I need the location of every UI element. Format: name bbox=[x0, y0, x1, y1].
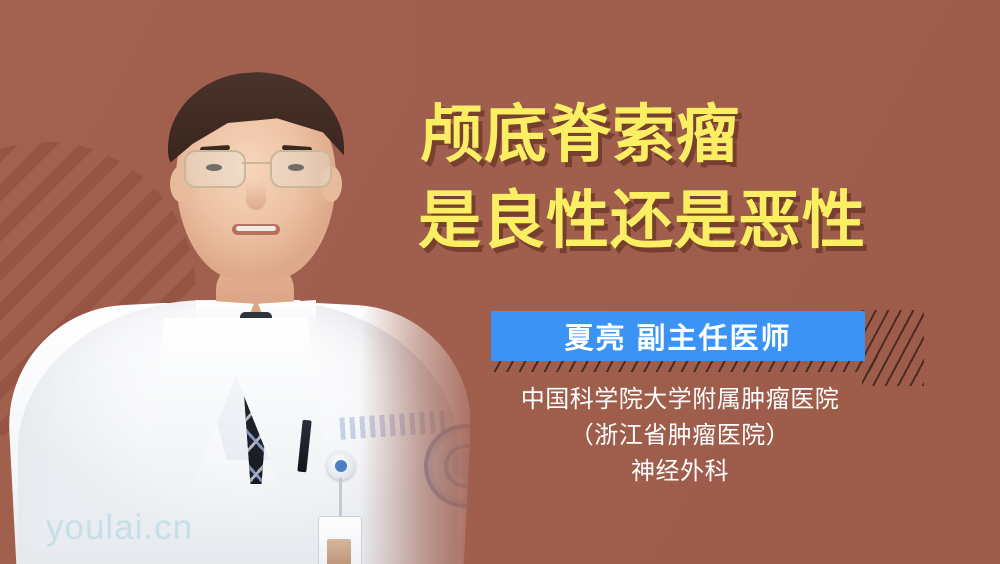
title-line-2: 是良性还是恶性 bbox=[410, 178, 980, 264]
hatch-decoration-right bbox=[862, 310, 924, 386]
affiliation-line-2: （浙江省肿瘤医院） bbox=[440, 418, 920, 454]
id-badge-photo bbox=[327, 539, 351, 564]
doctor-name-badge: 夏亮 副主任医师 bbox=[491, 311, 865, 361]
glasses-lens-right bbox=[270, 150, 332, 188]
glasses-bridge bbox=[242, 162, 270, 164]
eyeglasses-icon bbox=[182, 150, 332, 186]
doctor-portrait bbox=[0, 0, 470, 564]
doctor-name-label: 夏亮 副主任医师 bbox=[564, 315, 791, 357]
affiliation-line-1: 中国科学院大学附属肿瘤医院 bbox=[440, 382, 920, 418]
title-line-1: 颅底脊索瘤 bbox=[410, 92, 980, 178]
video-thumbnail: 颅底脊索瘤 是良性还是恶性 夏亮 副主任医师 中国科学院大学附属肿瘤医院 （浙江… bbox=[0, 0, 1000, 564]
title-block: 颅底脊索瘤 是良性还是恶性 bbox=[410, 92, 980, 264]
teeth bbox=[236, 226, 276, 231]
affiliation-block: 中国科学院大学附属肿瘤医院 （浙江省肿瘤医院） 神经外科 bbox=[440, 382, 920, 490]
affiliation-line-3: 神经外科 bbox=[440, 454, 920, 490]
site-watermark: youlai.cn bbox=[46, 508, 193, 548]
glasses-lens-left bbox=[184, 150, 246, 188]
badge-reel bbox=[327, 452, 355, 480]
badge-cord bbox=[339, 478, 342, 518]
nose bbox=[246, 182, 266, 210]
id-badge-card bbox=[318, 516, 362, 564]
